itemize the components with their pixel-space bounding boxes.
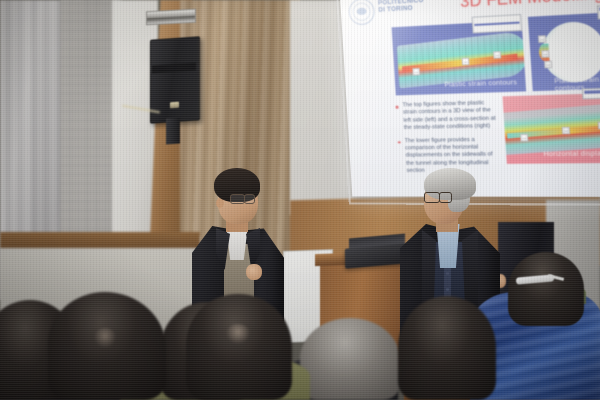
figure-tag: —: [412, 68, 420, 75]
figure-caption: Plastic strain contours: [444, 79, 517, 89]
legend-plastic-strain: [472, 14, 523, 33]
audience-head: [186, 294, 292, 400]
eyeglasses-icon: [230, 194, 245, 204]
hair-parting: [94, 328, 116, 348]
bullet-item: The top figures show the plastic strain …: [394, 100, 500, 133]
eyeglasses-icon: [439, 192, 452, 203]
eyeglasses-icon: [244, 194, 255, 204]
audience-head-grey: [300, 318, 400, 400]
figure-cross-section: — — — Plastic strain contours: [528, 12, 600, 91]
university-crest-icon: [348, 0, 375, 26]
figure-horizontal-displacements: — — — Horizontal displacements: [503, 93, 600, 164]
university-name-label: POLITECNICO DI TORINO: [378, 0, 425, 15]
slide-title: 3D FEM Modelling: [460, 0, 600, 12]
figure-tag: —: [493, 51, 501, 59]
cardigan-button: [446, 272, 449, 275]
cardigan-button: [446, 288, 449, 291]
audience-head: [398, 296, 496, 400]
eyeglasses-icon: [424, 192, 440, 203]
speaker-badge: [170, 102, 179, 109]
photograph-conference-hall: POLITECNICO DI TORINO 3D FEM Modelling —…: [0, 0, 600, 400]
figure-tag: —: [562, 127, 571, 135]
bullet-dot-icon: [398, 141, 401, 144]
figure-tag: —: [544, 61, 553, 69]
figure-tag: —: [520, 134, 529, 142]
raised-hand: [246, 264, 262, 280]
bullet-dot-icon: [395, 106, 398, 109]
figure-tag: —: [541, 50, 550, 58]
bullet-text: The top figures show the plastic strain …: [402, 100, 500, 133]
hair-parting: [226, 324, 250, 344]
ceiling-vent: [146, 9, 196, 26]
figure-caption: Horizontal displacements: [543, 150, 600, 159]
audience-head: [48, 292, 166, 400]
figure-tag: —: [538, 35, 547, 43]
audience-head: [508, 252, 584, 326]
dado-rail: [0, 232, 200, 248]
speaker-mount-bracket: [166, 118, 180, 145]
figure-tag: —: [462, 58, 470, 66]
legend-horizontal-displacement: [582, 87, 600, 99]
